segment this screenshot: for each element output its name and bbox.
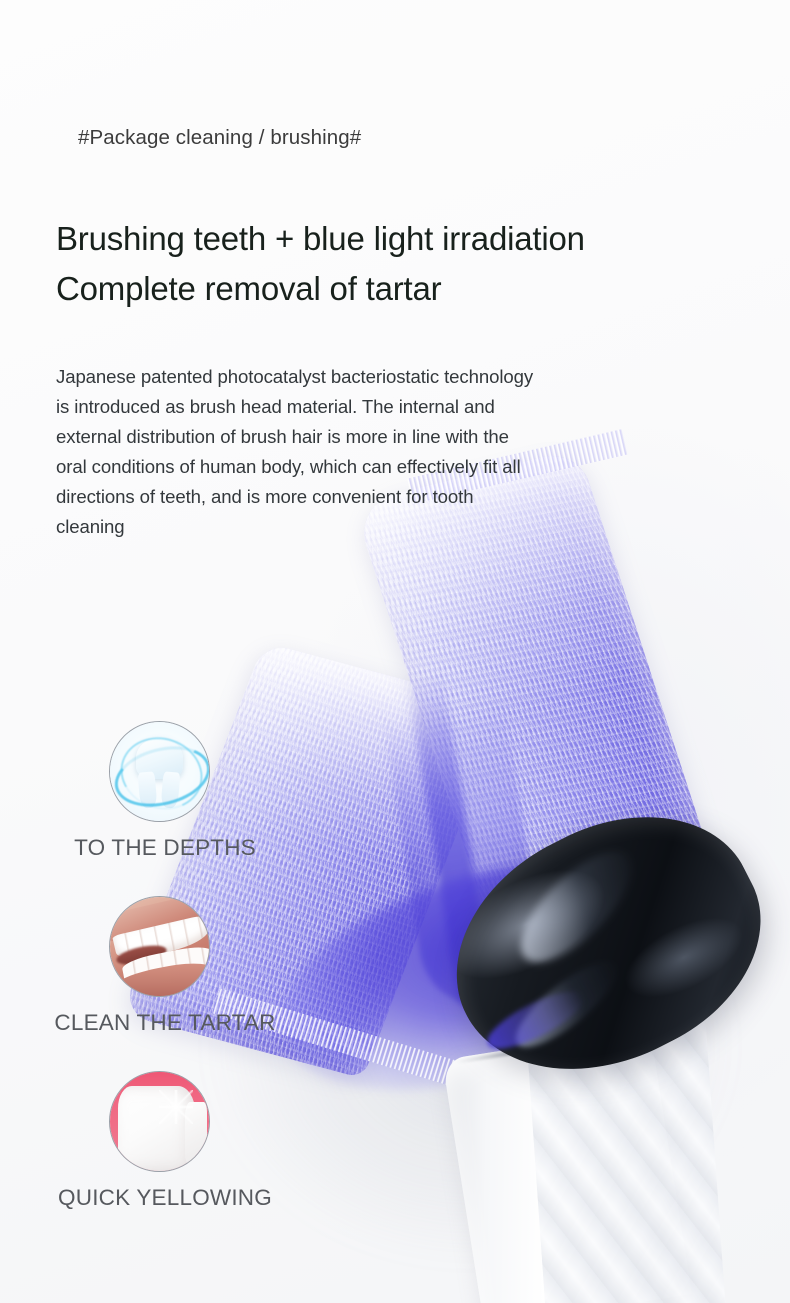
feature-label: TO THE DEPTHS [0, 835, 330, 861]
sparkle-icon [159, 1090, 193, 1124]
feature-label: CLEAN THE TARTAR [0, 1010, 330, 1036]
product-marketing-page: #Package cleaning / brushing# Brushing t… [0, 0, 790, 1303]
tooth-deep-clean-icon [109, 721, 210, 822]
feature-label: QUICK YELLOWING [0, 1185, 330, 1211]
feature-item: TO THE DEPTHS [0, 713, 330, 888]
gum-tooth-glyph [110, 1072, 209, 1171]
description-paragraph: Japanese patented photocatalyst bacterio… [56, 362, 728, 542]
feature-list: TO THE DEPTHS CLEAN THE TARTAR [0, 713, 330, 1238]
white-tooth-pink-gum-sparkle-icon [109, 1071, 210, 1172]
page-title: Brushing teeth + blue light irradiation … [56, 214, 585, 314]
tagline: #Package cleaning / brushing# [78, 126, 361, 150]
feature-item: QUICK YELLOWING [0, 1063, 330, 1238]
smiling-mouth-teeth-icon [109, 896, 210, 997]
cyan-swirl-inner [111, 727, 210, 821]
mouth-glyph [110, 897, 209, 996]
tooth-glyph [110, 722, 209, 821]
feature-item: CLEAN THE TARTAR [0, 888, 330, 1063]
